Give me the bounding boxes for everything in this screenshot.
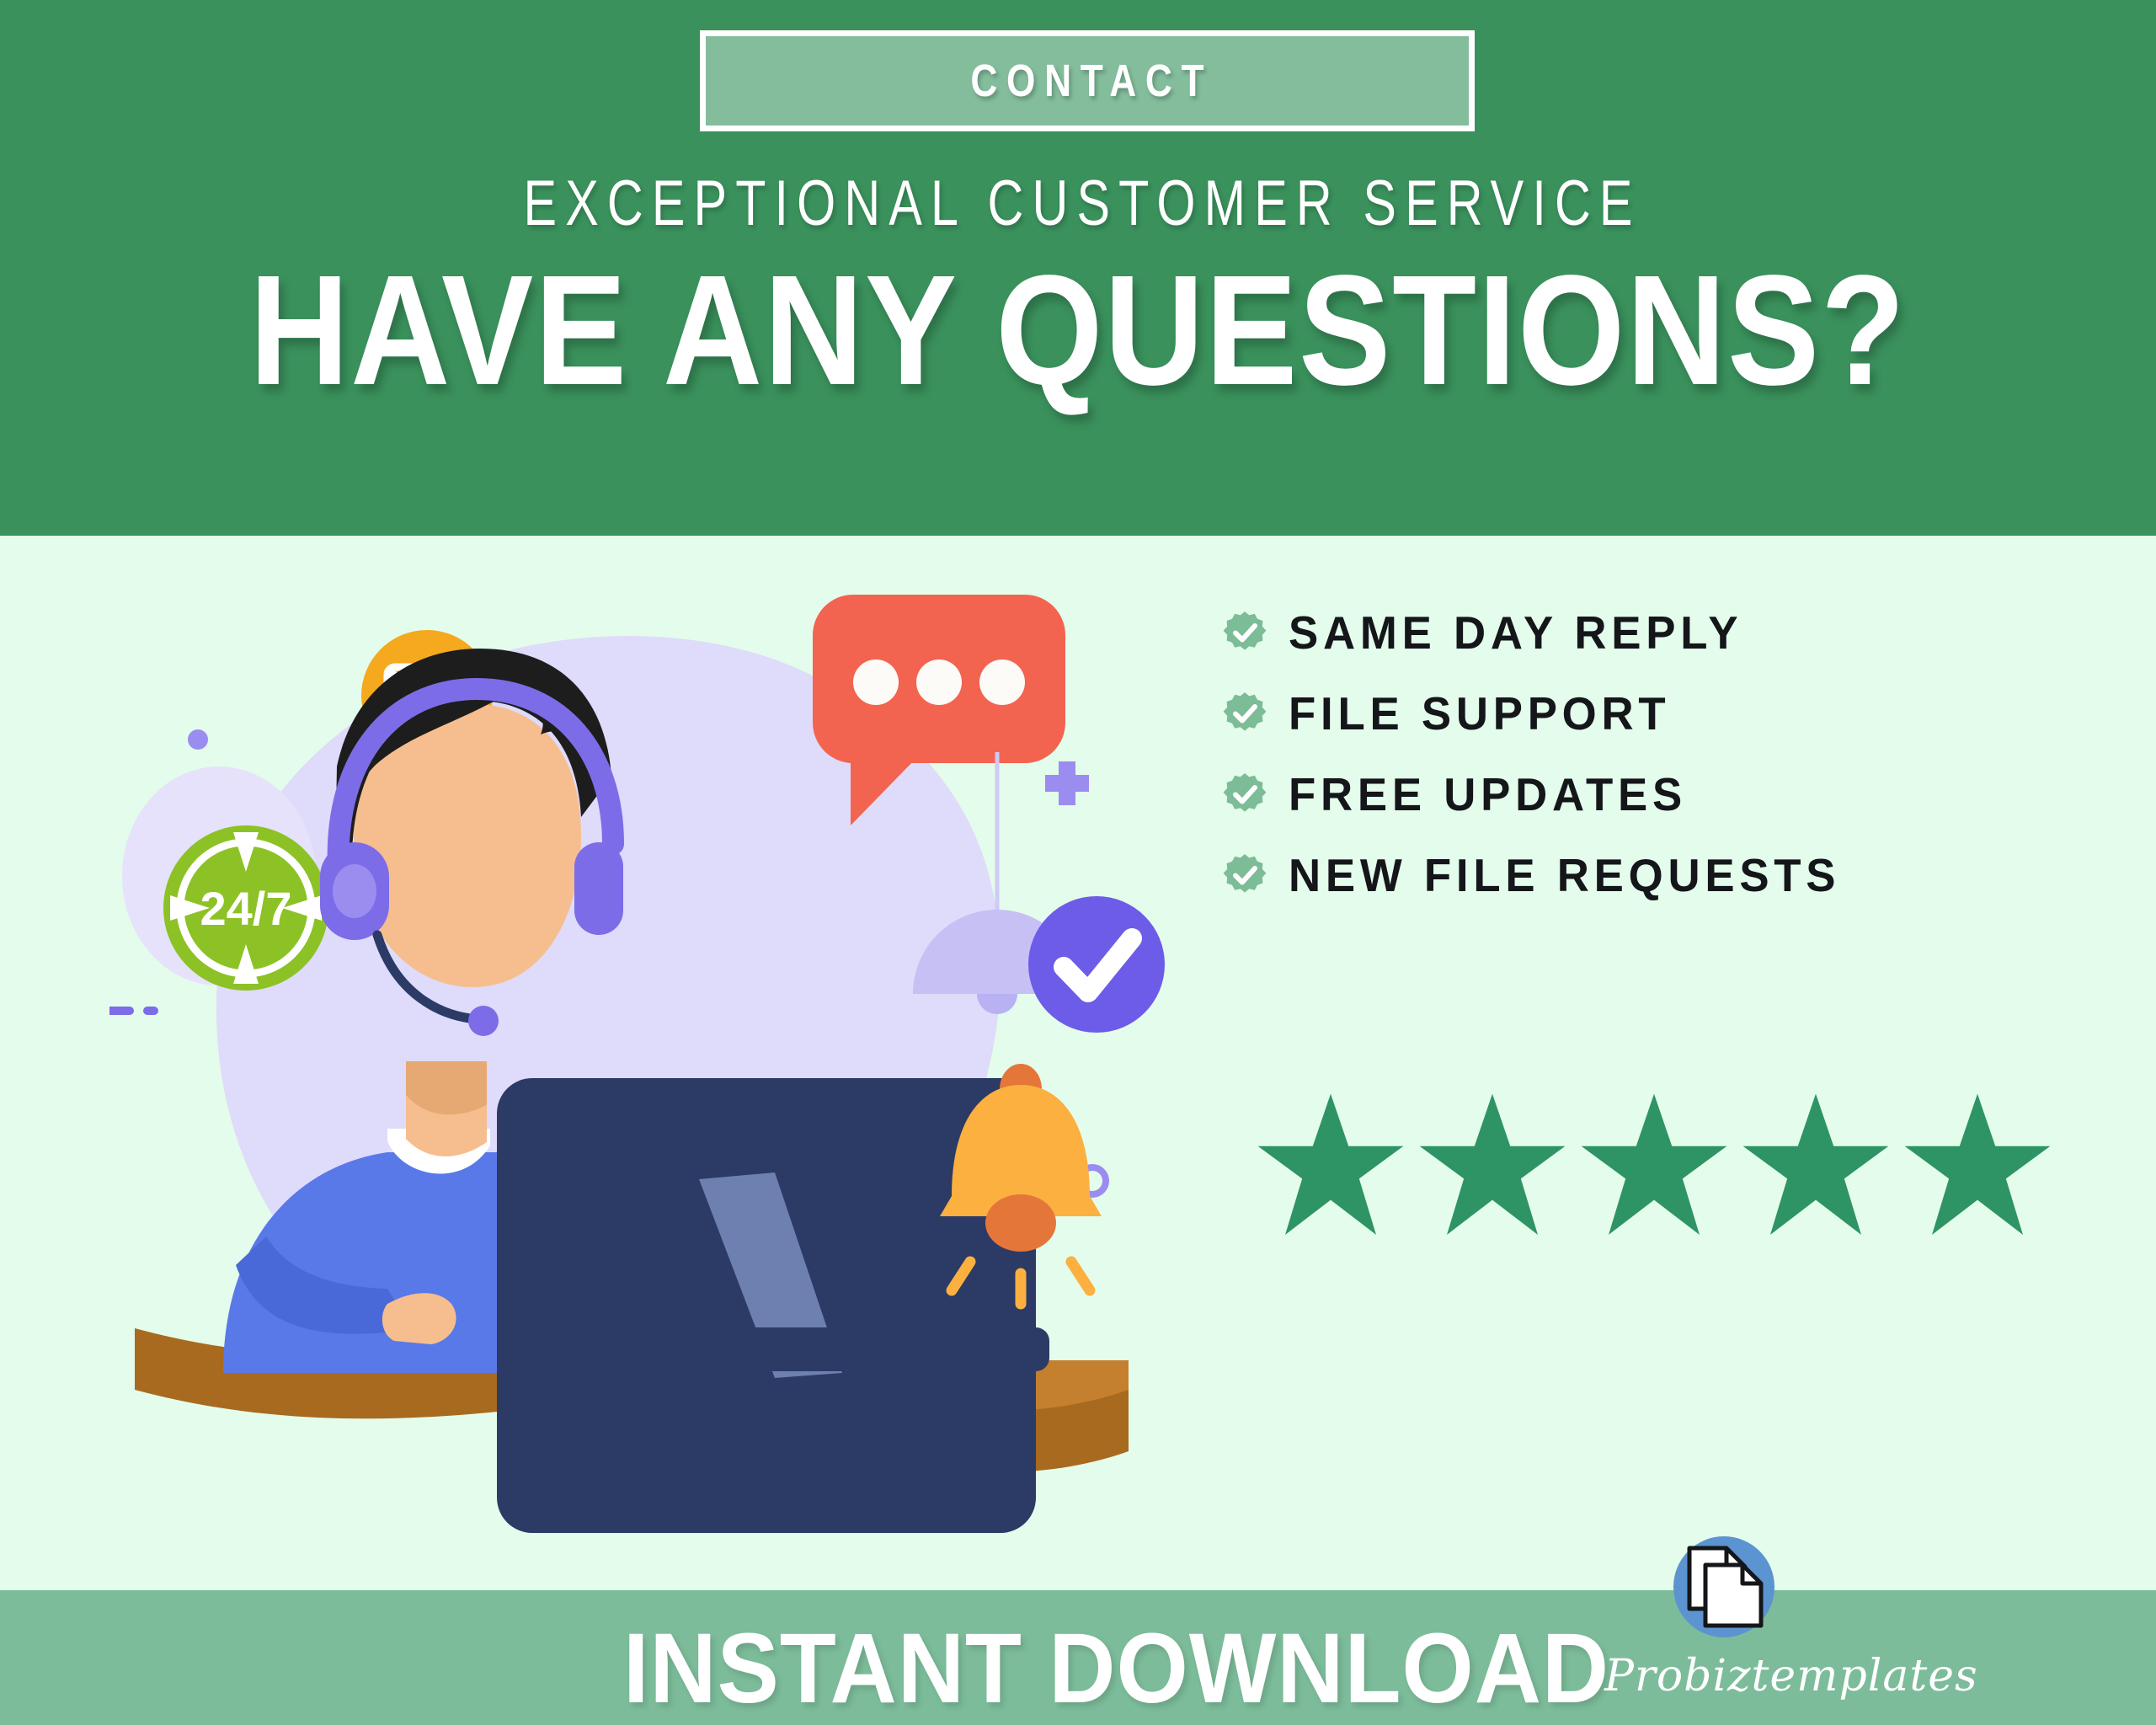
- dot-mark-1: [188, 729, 208, 750]
- star-icon: [1740, 1091, 1892, 1242]
- list-item-label: NEW FILE REQUESTS: [1289, 848, 1840, 902]
- dash-mark-3: [109, 1007, 134, 1015]
- list-item-label: FILE SUPPORT: [1289, 686, 1670, 740]
- check-badge-icon: [1223, 772, 1267, 816]
- dash-mark-4: [143, 1007, 158, 1015]
- check-circle: [1028, 896, 1165, 1033]
- list-item: NEW FILE REQUESTS: [1223, 846, 1864, 905]
- keyboard-left: [622, 1327, 862, 1371]
- documents-stack-icon: [1653, 1516, 1795, 1658]
- list-item: FREE UPDATES: [1223, 765, 1864, 824]
- contact-badge-label: CONTACT: [962, 55, 1213, 107]
- headset-earcup-left-inner: [333, 864, 376, 918]
- list-item: SAME DAY REPLY: [1223, 603, 1864, 662]
- agent-hand: [382, 1293, 456, 1344]
- footer-title: INSTANT DOWNLOAD: [623, 1611, 1609, 1725]
- list-item-label: SAME DAY REPLY: [1289, 606, 1742, 660]
- star-icon: [1578, 1091, 1730, 1242]
- header-subtitle: EXCEPTIONAL CUSTOMER SERVICE: [237, 167, 1919, 240]
- check-badge-icon: [1223, 853, 1267, 897]
- plus-mark-1: [1045, 761, 1089, 805]
- clock-badge-label: 24/7: [200, 882, 292, 935]
- customer-support-illustration: 24/7: [109, 539, 1196, 1600]
- poster-canvas: CONTACT EXCEPTIONAL CUSTOMER SERVICE HAV…: [0, 0, 2156, 1725]
- header-band: CONTACT EXCEPTIONAL CUSTOMER SERVICE HAV…: [0, 0, 2156, 536]
- brand-name: Probiztemplates: [1604, 1651, 1874, 1701]
- check-badge-icon: [1223, 692, 1267, 735]
- star-icon: [1417, 1091, 1568, 1242]
- list-item: FILE SUPPORT: [1223, 684, 1864, 743]
- document-front: [1705, 1565, 1761, 1626]
- headset-mic-tip: [468, 1006, 499, 1036]
- chat-dot-1: [853, 660, 899, 705]
- clock-24-7-badge: 24/7: [163, 825, 328, 991]
- keyboard-right: [874, 1327, 1049, 1371]
- page-title: HAVE ANY QUESTIONS?: [130, 253, 2027, 409]
- chat-dot-2: [916, 660, 962, 705]
- list-item-label: FREE UPDATES: [1289, 767, 1687, 821]
- headset-earcup-right: [574, 842, 623, 935]
- feature-list: SAME DAY REPLY FILE SUPPORT FREE UPDATES…: [1223, 603, 1864, 905]
- bell-clapper: [985, 1194, 1056, 1252]
- check-badge-icon: [1223, 611, 1267, 654]
- star-icon: [1255, 1091, 1406, 1242]
- verified-check-icon: [1028, 896, 1165, 1033]
- chat-dot-3: [979, 660, 1025, 705]
- contact-badge[interactable]: CONTACT: [700, 30, 1475, 131]
- star-rating: [1255, 1091, 2053, 1242]
- star-icon: [1902, 1091, 2053, 1242]
